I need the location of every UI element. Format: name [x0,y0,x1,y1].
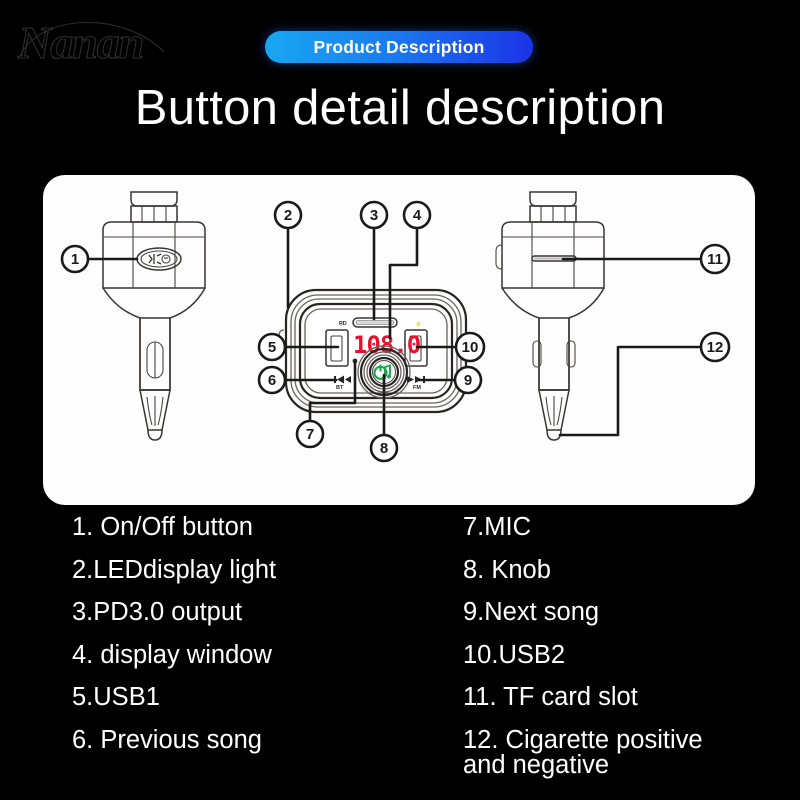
legend-item: 3.PD3.0 output [72,600,462,626]
brand-logo-text: Nanan [17,17,143,68]
legend-column-right: 7.MIC 8. Knob 9.Next song 10.USB2 11. TF… [463,515,793,796]
brand-logo: Nanan [14,8,174,70]
badge-label: Product Description [313,37,484,58]
legend-item: 6. Previous song [72,728,462,754]
device-right-illustration [496,192,604,440]
svg-text:6: 6 [268,372,276,389]
callout-1: 1 [62,246,137,272]
diagram-card: .ln { fill:none; stroke:#3a3533; stroke-… [43,175,755,505]
svg-text:2: 2 [284,207,292,224]
legend-item: 4. display window [72,643,462,669]
product-description-badge: Product Description [265,31,533,63]
svg-text:4: 4 [413,207,422,224]
product-description-page: Nanan Product Description Button detail … [0,0,800,800]
legend-item: 11. TF card slot [463,685,793,711]
legend-item: 2.LEDdisplay light [72,558,462,584]
callout-3: 3 [361,202,387,319]
svg-text:7: 7 [306,426,314,443]
on-off-button-glyph [149,254,170,264]
callout-12: 12 [560,333,729,435]
svg-text:FM: FM [413,385,421,391]
callout-11: 11 [563,245,729,273]
legend-item: 8. Knob [463,558,793,584]
legend-item: 9.Next song [463,600,793,626]
svg-text:3: 3 [370,207,378,224]
svg-text:10: 10 [462,339,479,356]
svg-text:9: 9 [464,372,472,389]
svg-text:11: 11 [707,251,723,268]
legend-item: 1. On/Off button [72,515,462,541]
svg-text:12: 12 [707,339,724,356]
device-left-illustration [103,192,205,440]
legend: 1. On/Off button 2.LEDdisplay light 3.PD… [0,515,800,800]
svg-text:⚡: ⚡ [415,321,422,328]
callout-2: 2 [275,202,301,307]
page-title: Button detail description [0,80,800,136]
svg-text:8: 8 [380,440,388,457]
svg-text:BT: BT [336,385,344,391]
legend-item: 10.USB2 [463,643,793,669]
usb1-port: ♪ [43,175,348,366]
svg-text:♪: ♪ [340,322,343,328]
legend-item: 7.MIC [463,515,793,541]
legend-item: 12. Cigarette positive and negative [463,728,793,779]
legend-item: 5.USB1 [72,685,462,711]
legend-column-left: 1. On/Off button 2.LEDdisplay light 3.PD… [72,515,462,770]
svg-text:5: 5 [268,339,276,356]
svg-text:1: 1 [71,251,79,268]
